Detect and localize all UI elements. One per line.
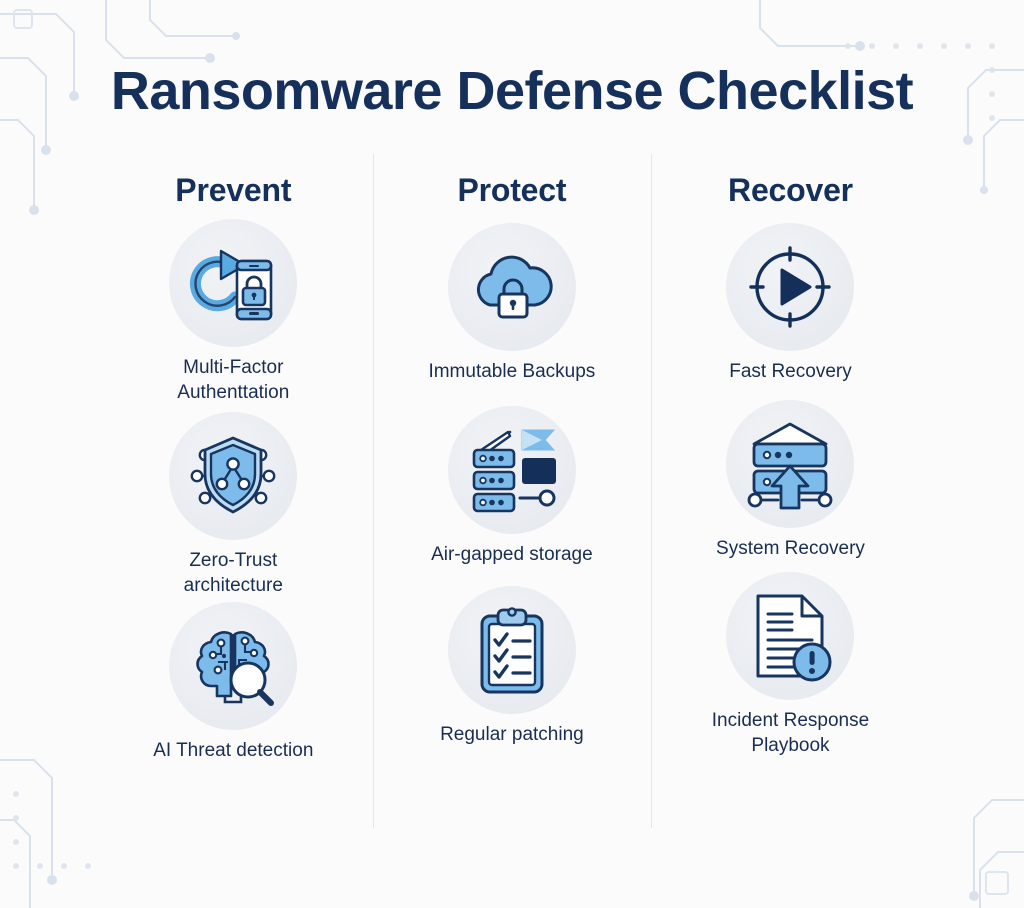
cloud-lock-icon bbox=[448, 223, 576, 351]
column-recover: Recover bbox=[651, 154, 930, 828]
server-restore-arrow-icon bbox=[726, 400, 854, 528]
checklist-item-label: Regular patching bbox=[440, 722, 584, 747]
document-alert-icon bbox=[726, 572, 854, 700]
column-items-recover: Fast Recovery bbox=[651, 217, 930, 757]
columns-container: Prevent bbox=[94, 154, 930, 828]
brain-magnifier-icon bbox=[169, 602, 297, 730]
checklist-item[interactable]: Immutable Backups bbox=[373, 217, 652, 384]
column-heading-prevent: Prevent bbox=[175, 172, 291, 209]
checklist-item-label: Incident ResponsePlaybook bbox=[712, 708, 869, 758]
column-heading-recover: Recover bbox=[728, 172, 853, 209]
checklist-item-label: Fast Recovery bbox=[729, 359, 851, 384]
checklist-item[interactable]: Incident ResponsePlaybook bbox=[651, 562, 930, 758]
checklist-item[interactable]: Zero-Trustarchitecture bbox=[94, 406, 373, 598]
infographic-page: Ransomware Defense Checklist Prevent bbox=[0, 0, 1024, 908]
column-heading-protect: Protect bbox=[457, 172, 566, 209]
server-airgap-icon bbox=[448, 406, 576, 534]
column-items-prevent: Multi-FactorAuthenttation bbox=[94, 217, 373, 762]
shield-network-icon bbox=[169, 412, 297, 540]
checklist-item[interactable]: Multi-FactorAuthenttation bbox=[94, 217, 373, 405]
checklist-item-label: Immutable Backups bbox=[428, 359, 595, 384]
clipboard-checklist-icon bbox=[448, 586, 576, 714]
checklist-item[interactable]: AI Threat detection bbox=[94, 598, 373, 763]
title-section: Ransomware Defense Checklist bbox=[0, 0, 1024, 121]
checklist-item-label: Multi-FactorAuthenttation bbox=[177, 355, 289, 405]
checklist-item-label: AI Threat detection bbox=[153, 738, 313, 763]
checklist-item-label: Zero-Trustarchitecture bbox=[184, 548, 283, 598]
checklist-item[interactable]: Fast Recovery bbox=[651, 217, 930, 384]
checklist-item[interactable]: System Recovery bbox=[651, 384, 930, 561]
column-items-protect: Immutable Backups bbox=[373, 217, 652, 746]
mfa-phone-lock-icon bbox=[169, 219, 297, 347]
column-protect: Protect Immutable Backups bbox=[373, 154, 652, 828]
checklist-item-label: Air-gapped storage bbox=[431, 542, 593, 567]
checklist-item-label: System Recovery bbox=[716, 536, 865, 561]
page-title: Ransomware Defense Checklist bbox=[0, 62, 1024, 121]
checklist-item[interactable]: Air-gapped storage bbox=[373, 384, 652, 567]
checklist-item[interactable]: Regular patching bbox=[373, 568, 652, 747]
stopwatch-play-icon bbox=[726, 223, 854, 351]
column-prevent: Prevent bbox=[94, 154, 373, 828]
